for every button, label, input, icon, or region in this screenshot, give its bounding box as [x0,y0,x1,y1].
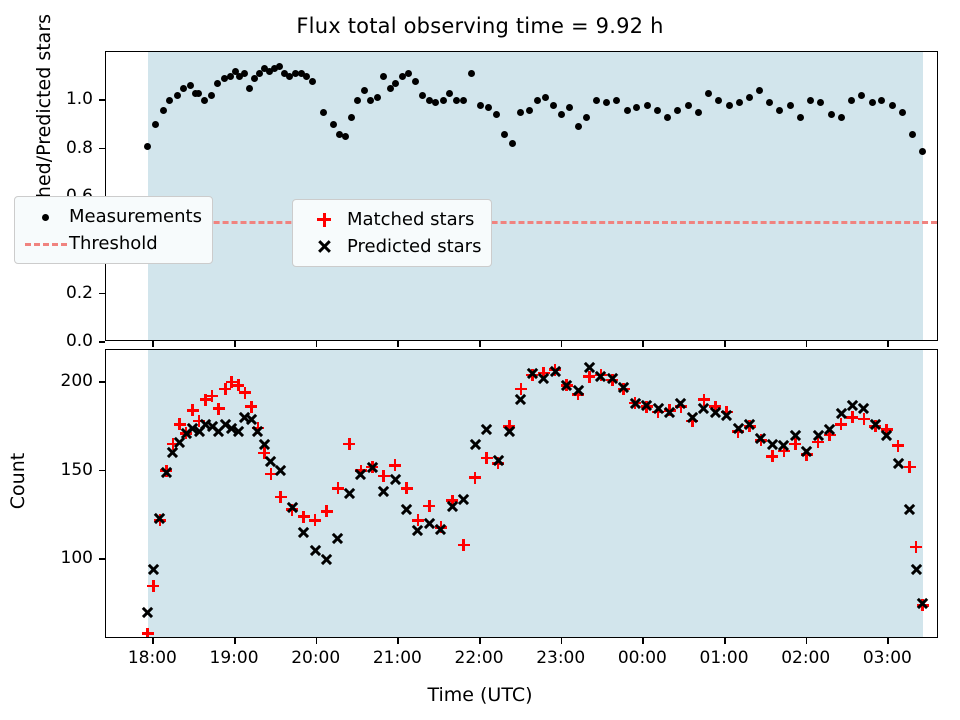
x-tick-label: 03:00 [863,648,912,668]
data-point-measurement [766,99,773,106]
data-point-measurement [550,102,557,109]
data-point-measurement [575,123,582,130]
data-point-measurement [342,133,349,140]
x-tick-mark [887,341,889,347]
y-tick-label: 100 [0,548,93,568]
data-point-measurement [493,111,500,118]
data-point-measurement [374,94,381,101]
legend-label-threshold: Threshold [69,233,158,254]
x-tick-label: 21:00 [373,648,422,668]
y-tick-mark [99,381,105,383]
data-point-measurement [195,90,202,97]
data-point-measurement [354,97,361,104]
data-point-measurement [160,107,167,114]
data-point-measurement [593,97,600,104]
data-point-measurement [201,97,208,104]
data-point-measurement [214,80,221,87]
data-point-measurement [405,70,412,77]
data-point-measurement [624,107,631,114]
y-tick-label: 0.0 [0,331,93,351]
data-point-measurement [330,121,337,128]
y-tick-label: 0.2 [0,283,93,303]
data-point-measurement [919,148,926,155]
data-point-measurement [460,97,467,104]
data-point-measurement [566,104,573,111]
data-point-measurement [603,99,610,106]
data-point-measurement [613,97,620,104]
data-point-measurement [869,99,876,106]
data-point-measurement [644,102,651,109]
data-point-measurement [807,97,814,104]
data-point-measurement [817,99,824,106]
data-point-measurement [517,109,524,116]
data-point-measurement [348,114,355,121]
x-tick-mark [561,638,563,644]
legend-item-measurements[interactable]: Measurements [23,203,202,230]
legend-item-threshold[interactable]: Threshold [23,230,202,257]
data-point-measurement [878,97,885,104]
legend-label-predicted-stars: Predicted stars [347,236,481,257]
y-tick-mark [99,293,105,295]
data-point-measurement [477,102,484,109]
data-point-measurement [828,111,835,118]
data-point-measurement [446,90,453,97]
measurements-dot-icon [23,206,69,228]
data-point-measurement [695,109,702,116]
data-point-measurement [361,87,368,94]
data-point-measurement [889,102,896,109]
x-tick-mark [887,638,889,644]
y-tick-label: 200 [0,371,93,391]
data-point-measurement [246,85,253,92]
legend-label-matched-stars: Matched stars [347,209,474,230]
x-axis-label: Time (UTC) [0,684,960,706]
data-point-measurement [241,70,248,77]
x-tick-mark [561,341,563,347]
threshold-dashed-line-icon [23,233,69,255]
data-point-measurement [715,97,722,104]
data-point-measurement [726,102,733,109]
x-tick-mark [724,341,726,347]
figure-canvas: Flux total observing time = 9.92 h 0.00.… [0,0,960,720]
x-tick-label: 20:00 [291,648,340,668]
data-point-measurement [144,143,151,150]
data-point-measurement [848,97,855,104]
data-point-measurement [309,78,316,85]
x-tick-mark [152,638,154,644]
data-point-measurement [583,114,590,121]
data-point-measurement [485,104,492,111]
data-point-measurement [174,92,181,99]
data-point-measurement [674,107,681,114]
figure-title: Flux total observing time = 9.92 h [0,14,960,38]
x-tick-mark [806,341,808,347]
x-tick-mark [642,341,644,347]
data-point-measurement [797,114,804,121]
data-point-measurement [534,97,541,104]
data-point-measurement [838,114,845,121]
data-point-measurement [558,111,565,118]
bottom-panel-legend[interactable]: Matched stars Predicted stars [292,199,492,267]
data-point-measurement [654,107,661,114]
data-point-measurement [412,78,419,85]
y-tick-mark [99,99,105,101]
data-point-measurement [685,102,692,109]
bottom-panel-plot-area [106,350,937,637]
y-tick-mark [99,148,105,150]
data-point-measurement [664,114,671,121]
data-point-measurement [392,80,399,87]
x-tick-mark [724,638,726,644]
data-point-measurement [419,92,426,99]
top-panel-axes [105,51,938,341]
x-tick-label: 19:00 [210,648,259,668]
x-tick-mark [642,638,644,644]
matched-stars-plus-icon [301,209,347,231]
data-point-measurement [166,97,173,104]
legend-item-matched-stars[interactable]: Matched stars [301,206,481,233]
y-tick-mark [99,470,105,472]
data-point-measurement [776,107,783,114]
x-tick-label: 18:00 [128,648,177,668]
data-point-measurement [320,109,327,116]
data-point-measurement [501,131,508,138]
x-tick-mark [397,341,399,347]
x-tick-mark [316,341,318,347]
x-tick-label: 01:00 [700,648,749,668]
data-point-measurement [468,70,475,77]
data-point-measurement [208,92,215,99]
top-panel-plot-area [106,52,937,340]
x-tick-label: 23:00 [536,648,585,668]
x-tick-label: 22:00 [455,648,504,668]
y-tick-mark [99,558,105,560]
data-point-measurement [526,107,533,114]
bottom-panel-axes [105,349,938,638]
x-tick-mark [806,638,808,644]
predicted-stars-cross-icon [301,236,347,258]
data-point-measurement [542,94,549,101]
bottom-panel-ylabel: Count [7,411,29,551]
data-point-measurement [432,99,439,106]
x-tick-label: 00:00 [618,648,667,668]
data-point-measurement [858,92,865,99]
x-tick-mark [234,341,236,347]
data-point-measurement [746,94,753,101]
y-tick-mark [99,341,105,343]
data-point-measurement [909,131,916,138]
legend-item-predicted-stars[interactable]: Predicted stars [301,233,481,260]
data-point-measurement [187,82,194,89]
data-point-measurement [453,97,460,104]
data-point-measurement [787,102,794,109]
data-point-measurement [633,104,640,111]
legend-label-measurements: Measurements [69,206,202,227]
data-point-measurement [899,109,906,116]
data-point-measurement [705,90,712,97]
data-point-measurement [380,73,387,80]
x-tick-mark [479,341,481,347]
data-point-measurement [756,87,763,94]
top-panel-legend[interactable]: Measurements Threshold [14,196,213,264]
x-tick-label: 02:00 [781,648,830,668]
data-point-measurement [276,63,283,70]
x-tick-mark [397,638,399,644]
x-tick-mark [316,638,318,644]
data-point-measurement [736,99,743,106]
threshold-line [106,221,937,224]
x-tick-mark [479,638,481,644]
x-tick-mark [152,341,154,347]
data-point-measurement [152,121,159,128]
data-point-measurement [509,140,516,147]
x-tick-mark [234,638,236,644]
data-point-measurement [440,97,447,104]
